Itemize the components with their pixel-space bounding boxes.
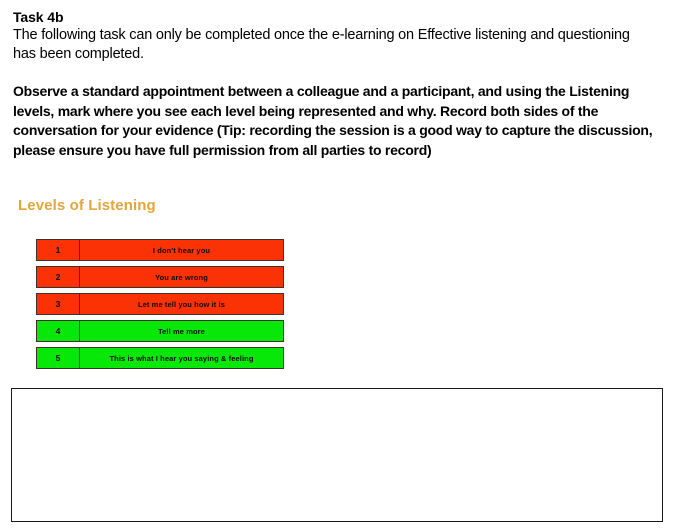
level-number: 3 (37, 294, 80, 314)
level-label: This is what I hear you saying & feeling (80, 348, 283, 368)
level-number: 4 (37, 321, 80, 341)
level-label: You are wrong (80, 267, 283, 287)
level-label: Tell me more (80, 321, 283, 341)
level-row: 2 You are wrong (36, 266, 284, 288)
level-number: 2 (37, 267, 80, 287)
level-label: I don't hear you (80, 240, 283, 260)
level-row: 1 I don't hear you (36, 239, 284, 261)
level-number: 5 (37, 348, 80, 368)
levels-of-listening-heading: Levels of Listening (18, 197, 156, 214)
level-row: 5 This is what I hear you saying & feeli… (36, 347, 284, 369)
level-label: Let me tell you how it is (80, 294, 283, 314)
answer-input-box[interactable] (11, 388, 663, 522)
level-row: 4 Tell me more (36, 320, 284, 342)
level-row: 3 Let me tell you how it is (36, 293, 284, 315)
worksheet-page: Task 4b The following task can only be c… (0, 0, 675, 531)
task-intro-text: The following task can only be completed… (13, 26, 648, 64)
task-instruction-text: Observe a standard appointment between a… (13, 82, 661, 160)
level-number: 1 (37, 240, 80, 260)
levels-of-listening-chart: 1 I don't hear you 2 You are wrong 3 Let… (36, 239, 284, 369)
page-title: Task 4b (13, 8, 63, 26)
